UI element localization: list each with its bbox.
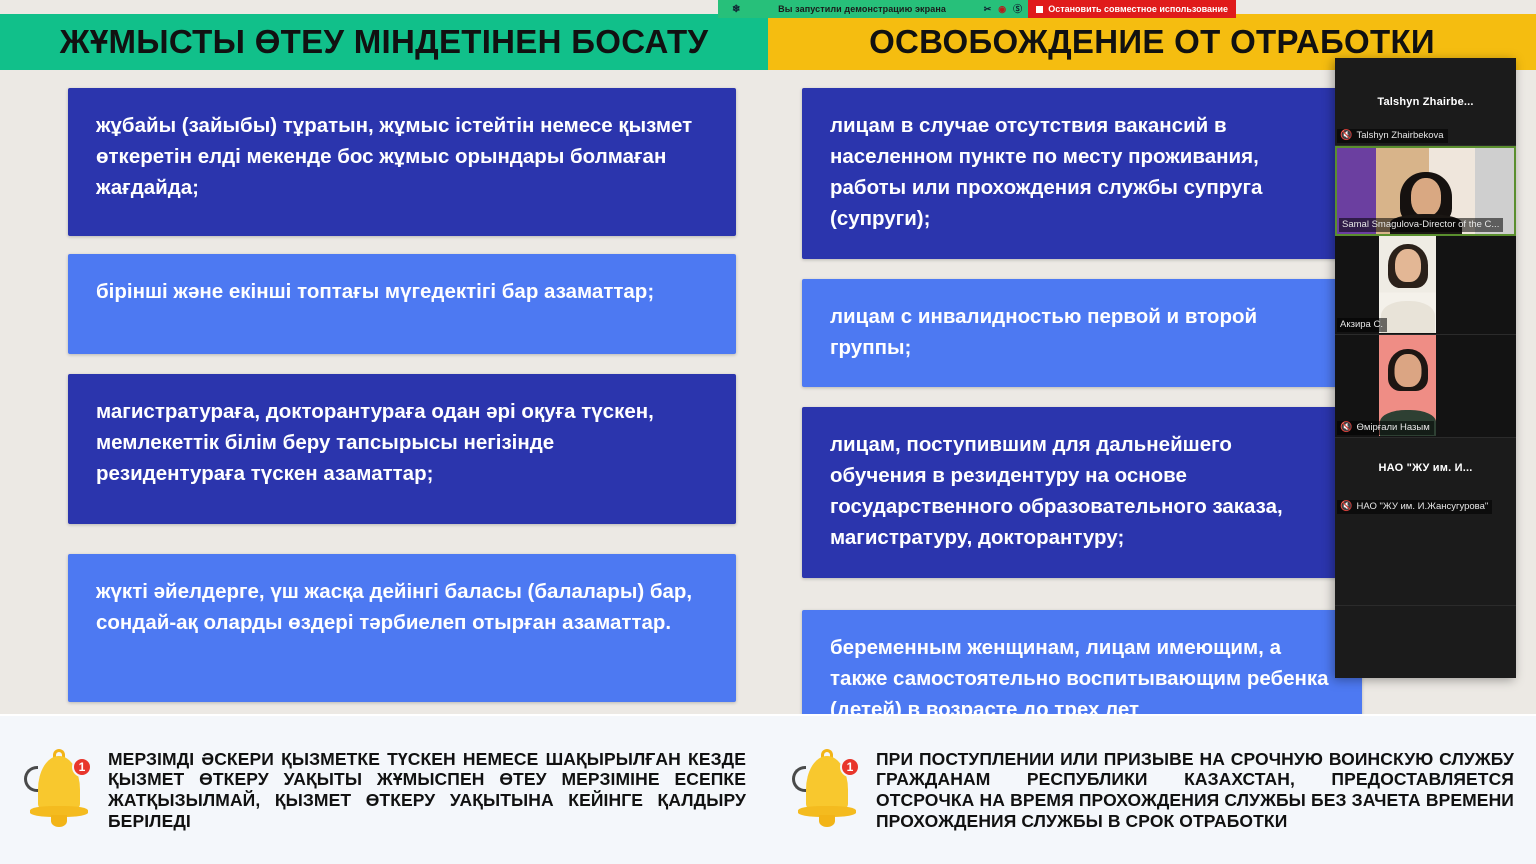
content-card: лицам с инвалидностью первой и второй гр… xyxy=(802,279,1362,387)
muted-mic-icon: 🔇 xyxy=(1340,423,1352,433)
participant-title: НАО "ЖУ им. И... xyxy=(1335,462,1516,474)
zoom-participants-panel[interactable]: Talshyn Zhairbe... 🔇 Talshyn Zhairbekova… xyxy=(1335,58,1516,678)
muted-mic-icon: 🔇 xyxy=(1340,131,1352,141)
participant-name: Talshyn Zhairbekova xyxy=(1356,130,1443,141)
bell-clapper xyxy=(51,815,67,827)
notification-badge: 1 xyxy=(72,757,92,777)
participant-name-label: Samal Smagulova-Director of the C... xyxy=(1339,218,1503,232)
presentation-slide: ЖҰМЫСТЫ ӨТЕУ МІНДЕТІНЕН БОСАТУ ОСВОБОЖДЕ… xyxy=(0,0,1536,864)
annotate-icon[interactable]: ✂ xyxy=(984,5,992,14)
participant-tile[interactable]: Talshyn Zhairbe... 🔇 Talshyn Zhairbekova xyxy=(1335,58,1516,146)
stop-square-icon xyxy=(1036,6,1043,13)
bell-wave-icon xyxy=(24,766,38,792)
pause-icon[interactable]: Ⓢ xyxy=(1013,5,1022,14)
participant-title: Talshyn Zhairbe... xyxy=(1335,96,1516,108)
right-content-column: лицам в случае отсутствия вакансий в нас… xyxy=(802,88,1362,768)
bell-icon: 1 xyxy=(792,748,862,832)
content-card: лицам в случае отсутствия вакансий в нас… xyxy=(802,88,1362,259)
participant-tile[interactable]: 🔇 Садыкова Мадина xyxy=(1335,606,1516,678)
content-card: жұбайы (зайыбы) тұратын, жұмыс істейтін … xyxy=(68,88,736,236)
muted-mic-icon: 🔇 xyxy=(1340,502,1352,512)
share-controls[interactable]: ✂ ◉ Ⓢ xyxy=(984,5,1028,14)
bell-clapper xyxy=(819,815,835,827)
header-title-kazakh: ЖҰМЫСТЫ ӨТЕУ МІНДЕТІНЕН БОСАТУ xyxy=(0,14,768,70)
content-card: жүкті әйелдерге, үш жасқа дейінгі баласы… xyxy=(68,554,736,702)
footer-notes: 1 МЕРЗІМДІ ӘСКЕРИ ҚЫЗМЕТКЕ ТҮСКЕН НЕМЕСЕ… xyxy=(0,714,1536,864)
participant-tile[interactable]: Акзира С. xyxy=(1335,236,1516,335)
share-status-bar: ❄ Вы запустили демонстрацию экрана ✂ ◉ Ⓢ xyxy=(718,0,1028,18)
content-card: бірінші және екінші топтағы мүгедектігі … xyxy=(68,254,736,354)
avatar-face xyxy=(1411,178,1441,216)
avatar-face xyxy=(1395,249,1421,282)
bell-wave-icon xyxy=(792,766,806,792)
content-card: магистратураға, докторантураға одан әрі … xyxy=(68,374,736,524)
slide-header: ЖҰМЫСТЫ ӨТЕУ МІНДЕТІНЕН БОСАТУ ОСВОБОЖДЕ… xyxy=(0,14,1536,70)
participant-name-label: 🔇 Өмірғали Назым xyxy=(1337,421,1434,435)
participant-name: Өмірғали Назым xyxy=(1356,422,1429,433)
leaf-icon: ❄ xyxy=(732,4,740,15)
note-russian: 1 ПРИ ПОСТУПЛЕНИИ ИЛИ ПРИЗЫВЕ НА СРОЧНУЮ… xyxy=(768,748,1536,832)
share-status-text: Вы запустили демонстрацию экрана xyxy=(768,4,956,14)
participant-name-label: 🔇 Talshyn Zhairbekova xyxy=(1337,129,1448,143)
left-content-column: жұбайы (зайыбы) тұратын, жұмыс істейтін … xyxy=(68,88,736,720)
participant-tile[interactable]: НАО "ЖУ им. И... 🔇 НАО "ЖУ им. И.Жансугу… xyxy=(1335,438,1516,606)
avatar-face xyxy=(1394,354,1421,387)
participant-tile[interactable]: 🔇 Өмірғали Назым xyxy=(1335,335,1516,438)
participant-tile-active-speaker[interactable]: Samal Smagulova-Director of the C... xyxy=(1335,146,1516,236)
participant-name: НАО "ЖУ им. И.Жансугурова" xyxy=(1356,501,1488,512)
participant-name: Samal Smagulova-Director of the C... xyxy=(1342,219,1499,230)
participant-name-label: Акзира С. xyxy=(1337,318,1387,332)
note-text-kazakh: МЕРЗІМДІ ӘСКЕРИ ҚЫЗМЕТКЕ ТҮСКЕН НЕМЕСЕ Ш… xyxy=(108,749,746,832)
screen-share-toolbar[interactable]: ❄ Вы запустили демонстрацию экрана ✂ ◉ Ⓢ… xyxy=(718,0,1236,18)
participant-name: Акзира С. xyxy=(1340,319,1383,330)
note-kazakh: 1 МЕРЗІМДІ ӘСКЕРИ ҚЫЗМЕТКЕ ТҮСКЕН НЕМЕСЕ… xyxy=(0,748,768,832)
avatar-shoulders xyxy=(1381,301,1435,333)
content-card: лицам, поступившим для дальнейшего обуче… xyxy=(802,407,1362,578)
bell-icon: 1 xyxy=(24,748,94,832)
record-dot-icon[interactable]: ◉ xyxy=(998,5,1006,14)
note-text-russian: ПРИ ПОСТУПЛЕНИИ ИЛИ ПРИЗЫВЕ НА СРОЧНУЮ В… xyxy=(876,749,1514,832)
participant-name-label: 🔇 НАО "ЖУ им. И.Жансугурова" xyxy=(1337,500,1492,514)
stop-share-label: Остановить совместное использование xyxy=(1048,4,1228,14)
stop-share-button[interactable]: Остановить совместное использование xyxy=(1028,0,1236,18)
notification-badge: 1 xyxy=(840,757,860,777)
